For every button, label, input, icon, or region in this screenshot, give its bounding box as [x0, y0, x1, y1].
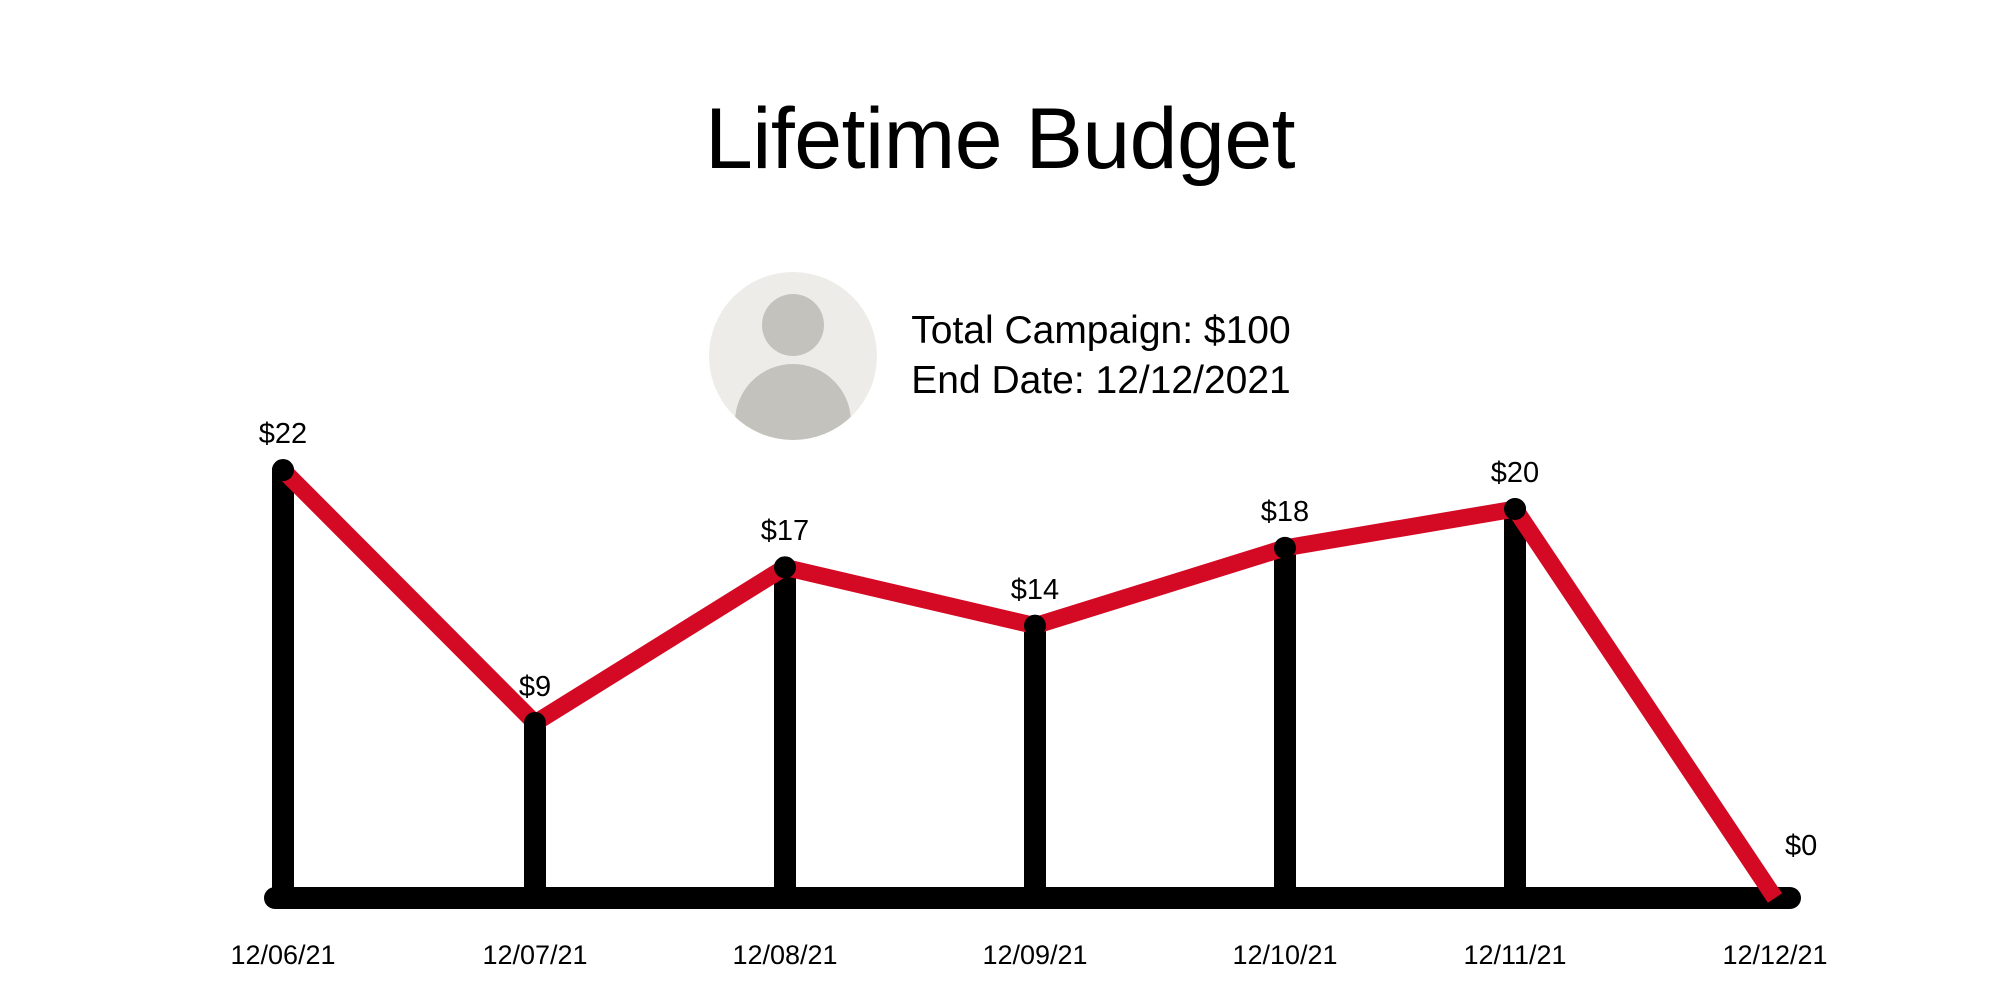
x-tick-label: 12/09/21: [982, 940, 1087, 971]
value-label: $17: [761, 515, 809, 548]
value-label: $22: [259, 418, 307, 451]
value-label: $9: [519, 671, 551, 704]
x-tick-label: 12/11/21: [1463, 940, 1566, 971]
data-point-marker[interactable]: [1274, 537, 1296, 559]
x-tick-label: 12/10/21: [1232, 940, 1337, 971]
data-point-marker[interactable]: [524, 712, 546, 734]
chart-page: Lifetime Budget Total Campaign: $100 End…: [0, 0, 2000, 1000]
data-point-marker[interactable]: [1024, 615, 1046, 637]
budget-chart: $22$9$17$14$18$20$0 12/06/2112/07/2112/0…: [0, 0, 2000, 1000]
value-label: $20: [1491, 457, 1539, 490]
data-point-marker[interactable]: [1504, 498, 1526, 520]
x-tick-label: 12/06/21: [230, 940, 335, 971]
data-point-marker[interactable]: [272, 459, 294, 481]
data-point-marker[interactable]: [774, 556, 796, 578]
x-tick-label: 12/08/21: [732, 940, 837, 971]
value-label: $18: [1261, 496, 1309, 529]
value-label: $14: [1011, 574, 1059, 607]
chart-canvas: [0, 0, 2000, 1000]
value-label: $0: [1785, 830, 1817, 863]
x-tick-label: 12/07/21: [482, 940, 587, 971]
x-tick-label: 12/12/21: [1722, 940, 1827, 971]
